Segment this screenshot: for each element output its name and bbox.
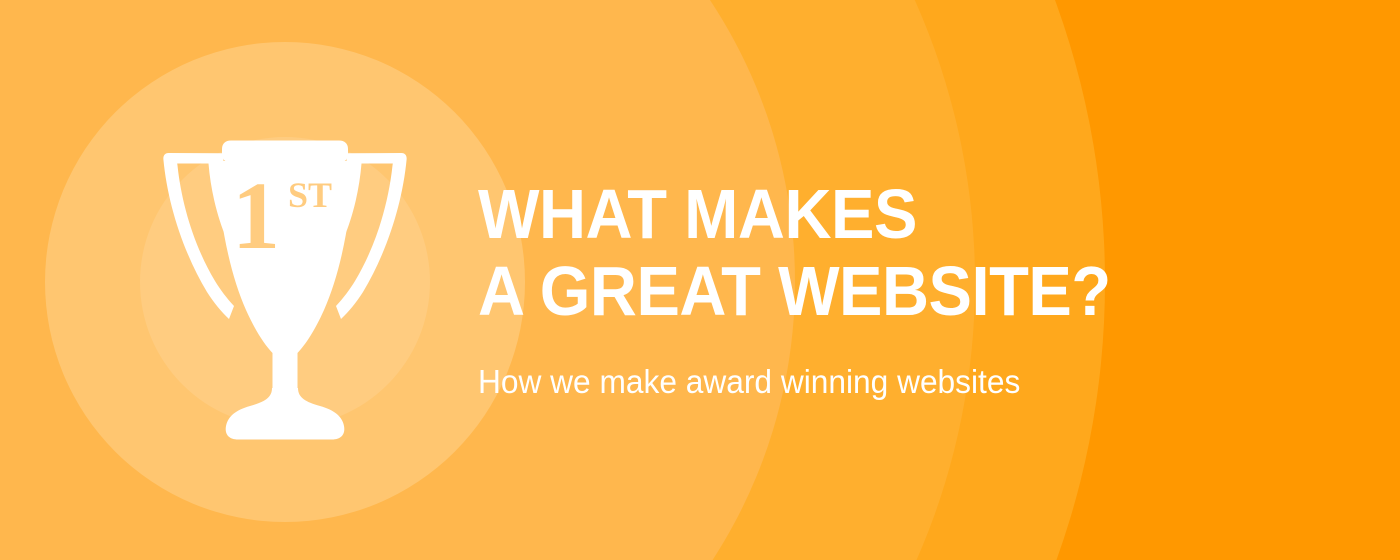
headline-line-1: WHAT MAKES — [478, 176, 1296, 253]
page-title: WHAT MAKES A GREAT WEBSITE? — [478, 176, 1296, 330]
trophy-base — [226, 388, 345, 440]
banner-content: 1 ST — [0, 0, 1400, 560]
page-subtitle: How we make award winning websites — [478, 330, 1323, 401]
trophy-graphic: 1 ST — [160, 140, 410, 445]
trophy-body — [163, 141, 406, 440]
trophy-icon: 1 ST — [160, 140, 410, 445]
trophy-cup — [216, 161, 353, 383]
text-block: WHAT MAKES A GREAT WEBSITE? How we make … — [478, 176, 1358, 401]
trophy-rim — [222, 141, 348, 163]
promo-banner: 1 ST — [0, 0, 1400, 560]
headline-line-2: A GREAT WEBSITE? — [478, 253, 1296, 330]
